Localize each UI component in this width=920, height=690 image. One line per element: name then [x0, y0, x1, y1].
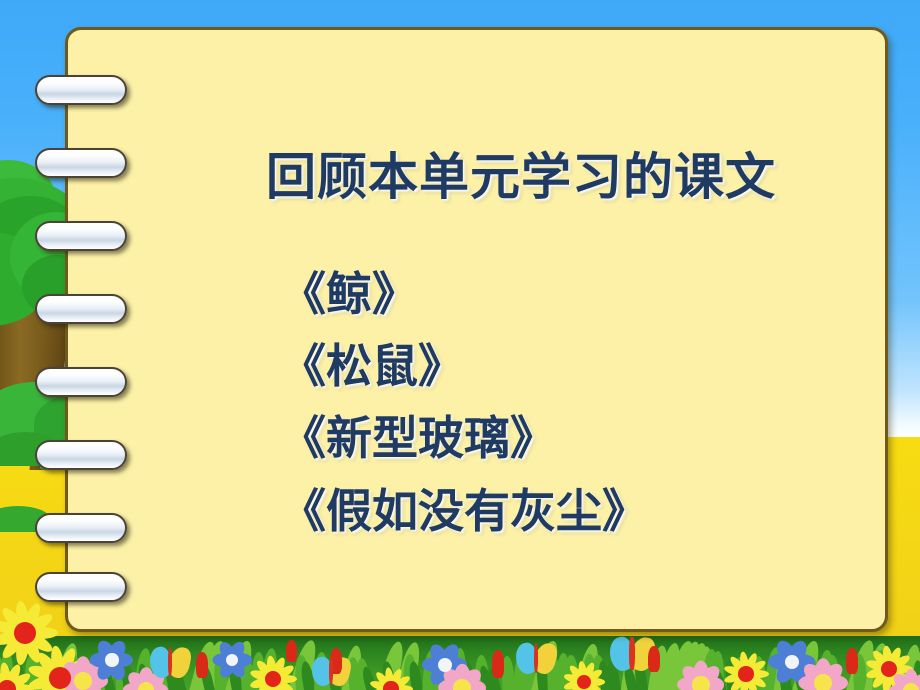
daisy-flower	[556, 654, 612, 690]
flower-center	[438, 658, 452, 672]
red-bud-flower	[648, 646, 660, 672]
lesson-list-item: 《鲸》	[280, 258, 648, 330]
red-bud-flower	[846, 648, 858, 674]
red-bud-flower	[196, 652, 208, 678]
lesson-list-item: 《松鼠》	[280, 330, 648, 402]
butterfly-icon	[312, 656, 350, 686]
daisy-flower	[0, 654, 42, 690]
butterfly-body	[629, 637, 634, 669]
daisy-flower	[362, 660, 420, 690]
flower-center	[738, 666, 754, 682]
flower-center	[881, 661, 897, 677]
page-title: 回顾本单元学习的课文	[266, 148, 776, 206]
presentation-slide: 回顾本单元学习的课文 《鲸》《松鼠》《新型玻璃》《假如没有灰尘》	[0, 0, 920, 690]
flower-center	[383, 681, 398, 690]
flower-center	[105, 653, 119, 667]
red-bud-flower	[492, 650, 504, 678]
butterfly-body	[329, 657, 334, 685]
lesson-list: 《鲸》《松鼠》《新型玻璃》《假如没有灰尘》	[280, 258, 648, 547]
flower-center	[265, 671, 281, 687]
lesson-list-item: 《新型玻璃》	[280, 402, 648, 474]
cosmos-flower	[792, 652, 854, 690]
butterfly-icon	[516, 642, 556, 674]
lesson-list-item: 《假如没有灰尘》	[280, 475, 648, 547]
notepad-paper: 回顾本单元学习的课文 《鲸》《松鼠》《新型玻璃》《假如没有灰尘》	[65, 27, 888, 632]
flower-center	[814, 674, 833, 690]
flower-center	[692, 676, 709, 690]
flower-center	[453, 679, 471, 690]
grass-tuft	[0, 506, 50, 532]
red-bud-flower	[286, 640, 297, 662]
butterfly-icon	[150, 646, 190, 678]
flower-center	[49, 667, 71, 689]
